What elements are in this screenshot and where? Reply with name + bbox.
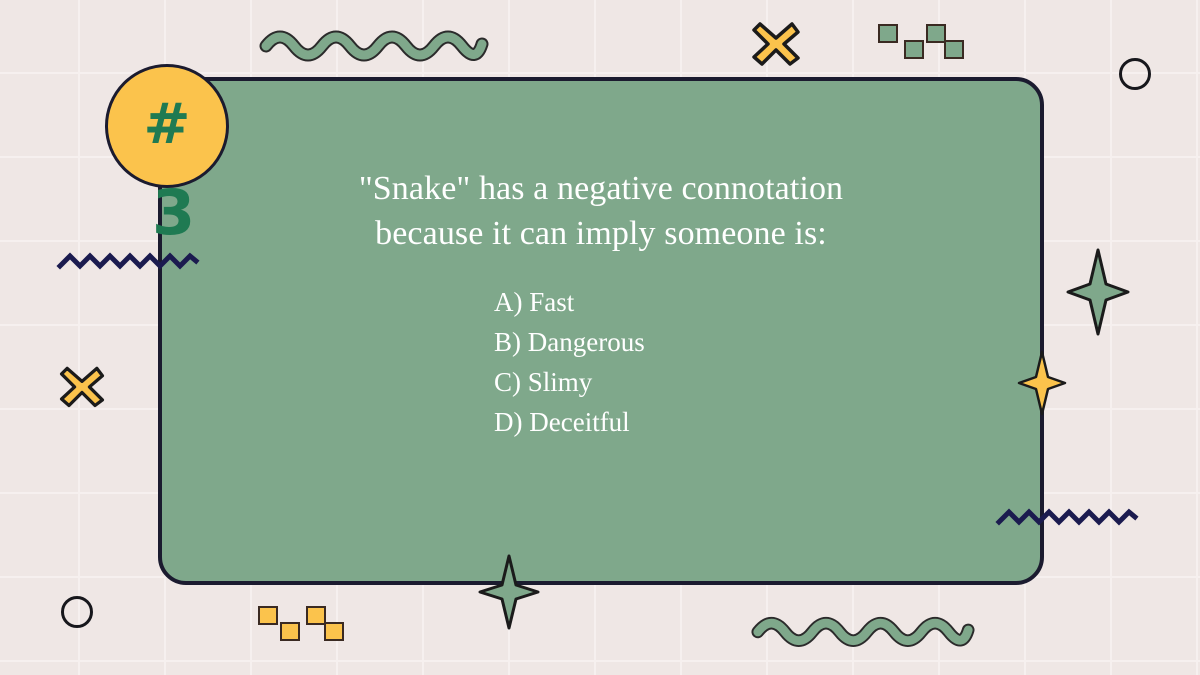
cross-top-icon: [748, 16, 804, 70]
circle-bottom-left-icon: [61, 596, 93, 628]
squiggle-bottom-right-icon: [750, 612, 976, 646]
answer-option-a[interactable]: A) Fast: [494, 283, 794, 323]
answer-option-d[interactable]: D) Deceitful: [494, 403, 794, 443]
slide-number: 3: [152, 182, 195, 244]
hash-badge: #: [105, 64, 229, 188]
hash-icon: #: [144, 97, 191, 153]
squares-top-right-icon: [878, 24, 964, 60]
zigzag-left-icon: [58, 250, 198, 274]
sparkle-bottom-center-icon: [478, 554, 540, 630]
answer-option-c[interactable]: C) Slimy: [494, 363, 794, 403]
question-card: "Snake" has a negative connotation becau…: [158, 77, 1044, 585]
sparkle-right-large-icon: [1066, 248, 1130, 336]
squiggle-top-left-icon: [258, 26, 490, 60]
squares-bottom-left-icon: [258, 606, 344, 642]
question-text: "Snake" has a negative connotation becau…: [331, 167, 871, 257]
quiz-slide: "Snake" has a negative connotation becau…: [0, 0, 1200, 675]
answer-options-list: A) Fast B) Dangerous C) Slimy D) Deceitf…: [494, 283, 794, 443]
circle-top-right-icon: [1119, 58, 1151, 90]
zigzag-right-icon: [997, 506, 1137, 530]
cross-left-icon: [56, 360, 108, 412]
answer-option-b[interactable]: B) Dangerous: [494, 323, 794, 363]
sparkle-right-small-icon: [1017, 350, 1067, 416]
